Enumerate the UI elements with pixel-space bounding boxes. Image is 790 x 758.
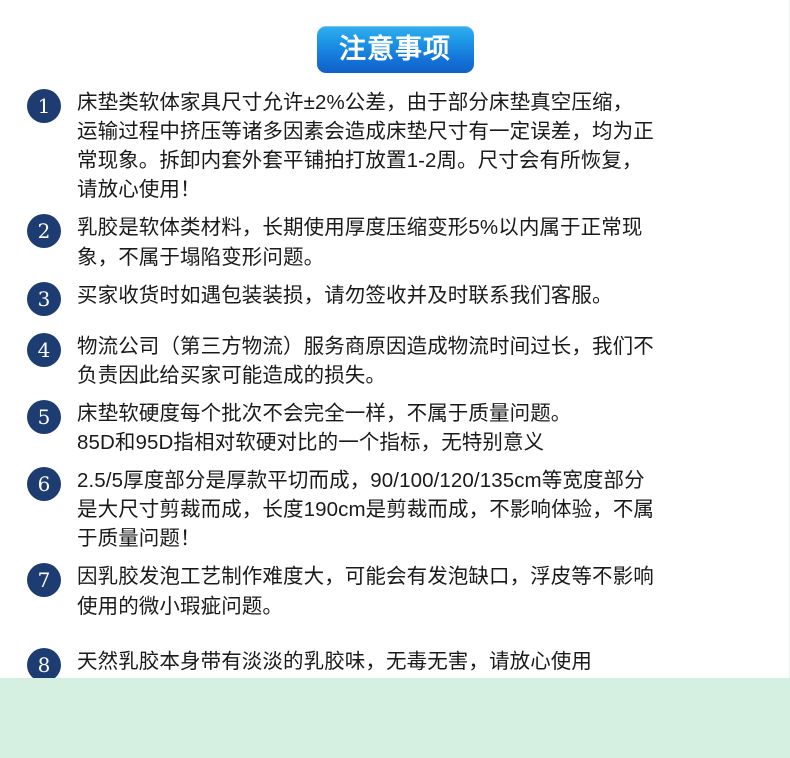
notice-text-line: 床垫类软体家具尺寸允许±2%公差，由于部分床垫真空压缩， — [77, 88, 776, 117]
page-title-badge: 注意事项 — [317, 26, 474, 73]
notice-number-badge: 2 — [27, 214, 61, 248]
notice-number-badge: 6 — [27, 467, 61, 501]
notice-text-line: 是大尺寸剪裁而成，长度190cm是剪裁而成，不影响体验，不属 — [77, 495, 776, 524]
notice-text: 物流公司（第三方物流）服务商原因造成物流时间过长，我们不 负责因此给买家可能造成… — [61, 332, 790, 390]
page-title-container: 注意事项 — [0, 26, 790, 73]
list-item: 5 床垫软硬度每个批次不会完全一样，不属于质量问题。 85D和95D指相对软硬对… — [0, 399, 790, 457]
notice-list: 1 床垫类软体家具尺寸允许±2%公差，由于部分床垫真空压缩， 运输过程中挤压等诸… — [0, 88, 790, 691]
list-item: 7 因乳胶发泡工艺制作难度大，可能会有发泡缺口，浮皮等不影响 使用的微小瑕疵问题… — [0, 562, 790, 620]
notice-text: 床垫类软体家具尺寸允许±2%公差，由于部分床垫真空压缩， 运输过程中挤压等诸多因… — [61, 88, 790, 204]
notice-number-badge: 5 — [27, 400, 61, 434]
notice-text: 买家收货时如遇包装装损，请勿签收并及时联系我们客服。 — [61, 281, 790, 310]
notice-page: 注意事项 1 床垫类软体家具尺寸允许±2%公差，由于部分床垫真空压缩， 运输过程… — [0, 0, 790, 758]
page-title: 注意事项 — [339, 36, 451, 63]
notice-text-line: 买家收货时如遇包装装损，请勿签收并及时联系我们客服。 — [77, 281, 776, 310]
notice-number-badge: 1 — [27, 89, 61, 123]
notice-text: 床垫软硬度每个批次不会完全一样，不属于质量问题。 85D和95D指相对软硬对比的… — [61, 399, 790, 457]
notice-text: 乳胶是软体类材料，长期使用厚度压缩变形5%以内属于正常现 象，不属于塌陷变形问题… — [61, 213, 790, 271]
notice-number-badge: 8 — [27, 648, 61, 682]
notice-number-badge: 7 — [27, 563, 61, 597]
notice-text-line: 负责因此给买家可能造成的损失。 — [77, 361, 776, 390]
notice-text: 因乳胶发泡工艺制作难度大，可能会有发泡缺口，浮皮等不影响 使用的微小瑕疵问题。 — [61, 562, 790, 620]
list-item: 8 天然乳胶本身带有淡淡的乳胶味，无毒无害，请放心使用 — [0, 647, 790, 682]
list-item: 3 买家收货时如遇包装装损，请勿签收并及时联系我们客服。 — [0, 281, 790, 316]
notice-text-line: 2.5/5厚度部分是厚款平切而成，90/100/120/135cm等宽度部分 — [77, 466, 776, 495]
list-item: 6 2.5/5厚度部分是厚款平切而成，90/100/120/135cm等宽度部分… — [0, 466, 790, 553]
notice-text-line: 因乳胶发泡工艺制作难度大，可能会有发泡缺口，浮皮等不影响 — [77, 562, 776, 591]
list-item: 4 物流公司（第三方物流）服务商原因造成物流时间过长，我们不 负责因此给买家可能… — [0, 332, 790, 390]
notice-text-line: 床垫软硬度每个批次不会完全一样，不属于质量问题。 — [77, 399, 776, 428]
notice-text-line: 运输过程中挤压等诸多因素会造成床垫尺寸有一定误差，均为正 — [77, 117, 776, 146]
notice-text-line: 物流公司（第三方物流）服务商原因造成物流时间过长，我们不 — [77, 332, 776, 361]
notice-text-line: 请放心使用！ — [77, 175, 776, 204]
list-item: 1 床垫类软体家具尺寸允许±2%公差，由于部分床垫真空压缩， 运输过程中挤压等诸… — [0, 88, 790, 204]
notice-text-line: 常现象。拆卸内套外套平铺拍打放置1-2周。尺寸会有所恢复， — [77, 146, 776, 175]
notice-text: 天然乳胶本身带有淡淡的乳胶味，无毒无害，请放心使用 — [61, 647, 790, 676]
bottom-color-band — [0, 678, 790, 758]
notice-text-line: 使用的微小瑕疵问题。 — [77, 592, 776, 621]
list-item: 2 乳胶是软体类材料，长期使用厚度压缩变形5%以内属于正常现 象，不属于塌陷变形… — [0, 213, 790, 271]
notice-text: 2.5/5厚度部分是厚款平切而成，90/100/120/135cm等宽度部分 是… — [61, 466, 790, 553]
notice-text-line: 于质量问题！ — [77, 524, 776, 553]
notice-text-line: 乳胶是软体类材料，长期使用厚度压缩变形5%以内属于正常现 — [77, 213, 776, 242]
notice-text-line: 85D和95D指相对软硬对比的一个指标，无特别意义 — [77, 428, 776, 457]
notice-number-badge: 4 — [27, 333, 61, 367]
notice-number-badge: 3 — [27, 282, 61, 316]
notice-text-line: 象，不属于塌陷变形问题。 — [77, 243, 776, 272]
notice-text-line: 天然乳胶本身带有淡淡的乳胶味，无毒无害，请放心使用 — [77, 647, 776, 676]
